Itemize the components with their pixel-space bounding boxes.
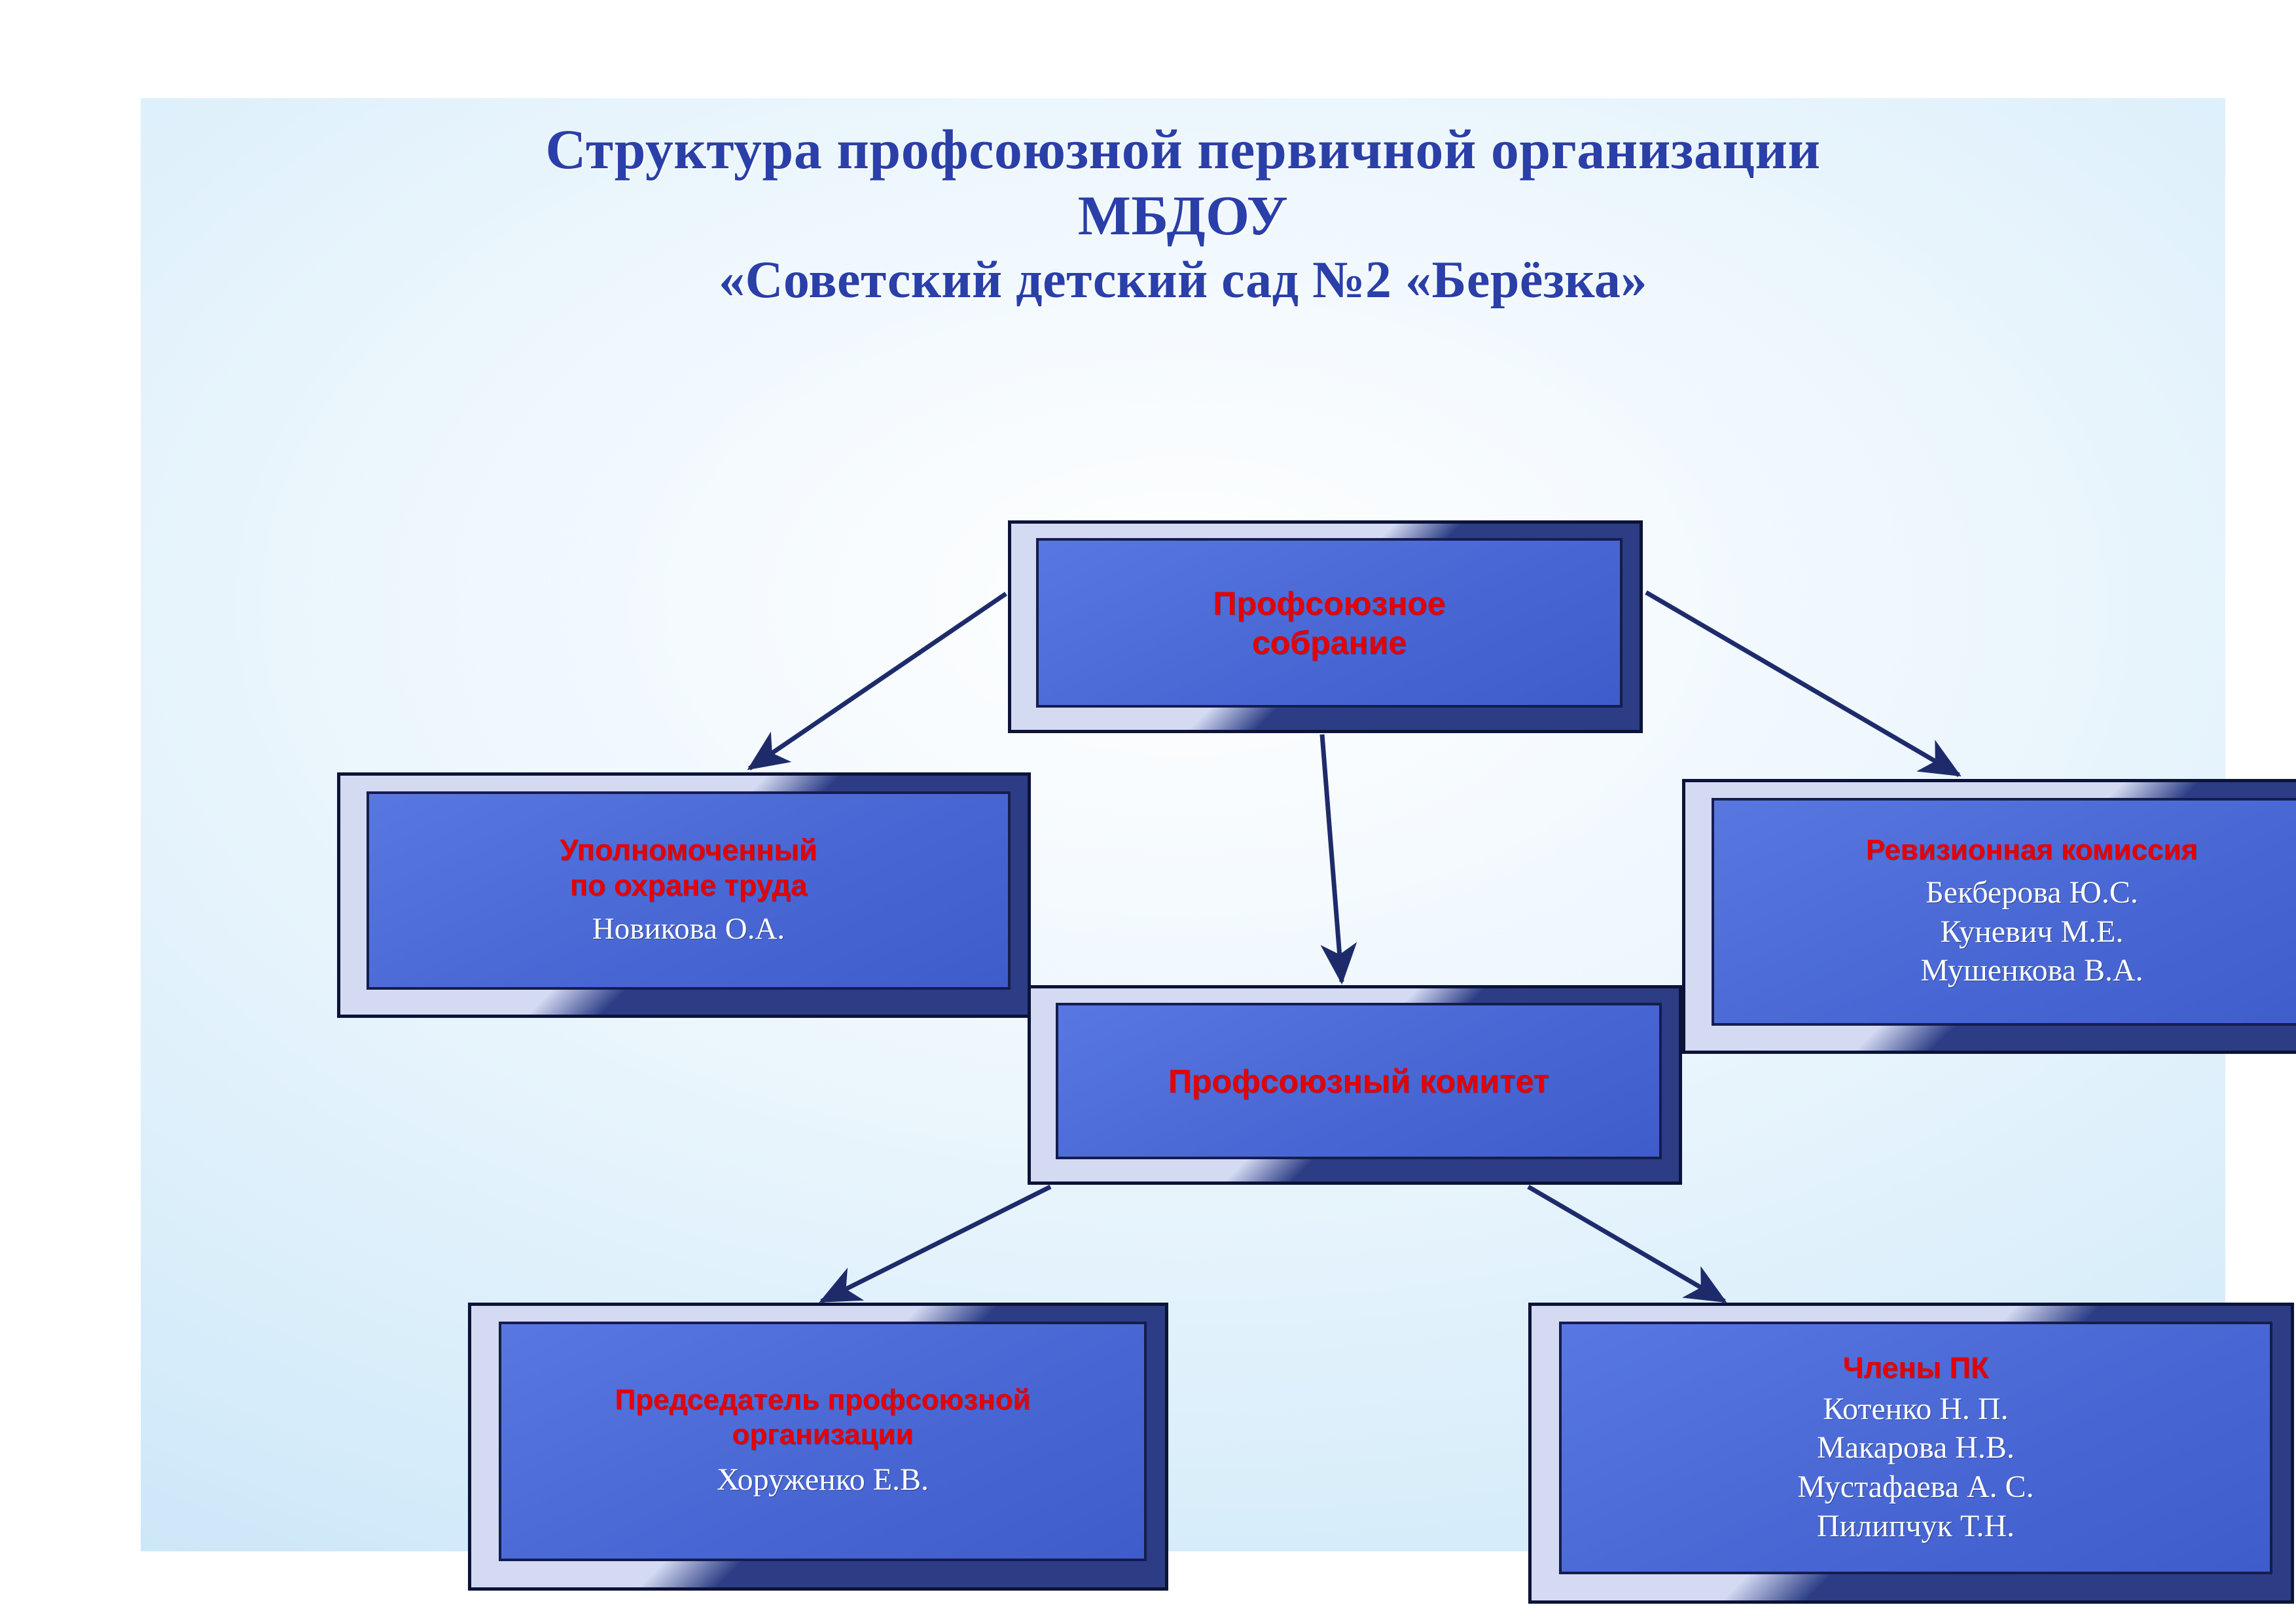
node-heading: Профсоюзный комитет [1168, 1062, 1549, 1101]
node-upolnomochennyi-po-ohrane-truda[interactable]: Уполномоченный по охране труда Новикова … [337, 772, 1031, 1018]
connector-committee-members [1528, 1187, 1725, 1301]
node-member: Бекберова Ю.С. [1926, 873, 2138, 912]
node-heading-line-1: Профсоюзное [1213, 584, 1445, 623]
node-face: Члены ПК Котенко Н. П. Макарова Н.В. Мус… [1559, 1322, 2272, 1574]
node-member: Мустафаева А. С. [1797, 1468, 2034, 1507]
node-profsoyuznoe-sobranie[interactable]: Профсоюзное собрание [1008, 520, 1643, 733]
node-revizionnaya-komissiya[interactable]: Ревизионная комиссия Бекберова Ю.С. Куне… [1682, 779, 2296, 1054]
node-face: Председатель профсоюзной организации Хор… [499, 1322, 1147, 1561]
node-heading: Председатель профсоюзной организации [615, 1383, 1030, 1453]
node-member: Макарова Н.В. [1817, 1428, 2015, 1468]
node-predsedatel-profsoyuznoi-organizacii[interactable]: Председатель профсоюзной организации Хор… [468, 1303, 1168, 1591]
node-heading-line-2: собрание [1213, 623, 1445, 662]
node-profsoyuznyi-komitet[interactable]: Профсоюзный комитет [1028, 985, 1682, 1185]
node-face: Уполномоченный по охране труда Новикова … [367, 791, 1011, 990]
node-heading-line-1: Председатель профсоюзной [615, 1383, 1030, 1418]
node-member: Котенко Н. П. [1823, 1390, 2008, 1429]
node-heading-line-2: организации [615, 1418, 1030, 1453]
page-title: Структура профсоюзной первичной организа… [141, 117, 2225, 311]
node-face: Ревизионная комиссия Бекберова Ю.С. Куне… [1712, 798, 2296, 1026]
title-line-2: МБДОУ [141, 183, 2225, 249]
node-member: Хоруженко Е.В. [717, 1460, 929, 1500]
node-member: Куневич М.Е. [1941, 912, 2124, 952]
node-heading-line-2: по охране труда [560, 868, 817, 903]
slide-canvas: Структура профсоюзной первичной организа… [141, 98, 2225, 1551]
connector-assembly-audit [1646, 592, 1959, 775]
node-chleny-pk[interactable]: Члены ПК Котенко Н. П. Макарова Н.В. Мус… [1528, 1303, 2294, 1604]
node-heading: Профсоюзное собрание [1213, 584, 1445, 662]
node-heading: Члены ПК [1843, 1350, 1989, 1386]
node-face: Профсоюзное собрание [1036, 538, 1623, 708]
connector-committee-chair [821, 1187, 1050, 1301]
title-line-3: «Советский детский сад №2 «Берёзка» [141, 249, 2225, 311]
node-member: Мушенкова В.А. [1920, 951, 2143, 990]
node-member: Пилипчук Т.Н. [1817, 1507, 2015, 1546]
node-heading: Ревизионная комиссия [1866, 833, 2198, 868]
node-member: Новикова О.А. [592, 910, 785, 948]
node-face: Профсоюзный комитет [1056, 1003, 1662, 1159]
connector-assembly-safety [749, 594, 1006, 768]
node-heading: Уполномоченный по охране труда [560, 833, 817, 903]
title-line-1: Структура профсоюзной первичной организа… [141, 117, 2225, 183]
connector-assembly-committee [1322, 734, 1342, 982]
node-heading-line-1: Уполномоченный [560, 833, 817, 868]
